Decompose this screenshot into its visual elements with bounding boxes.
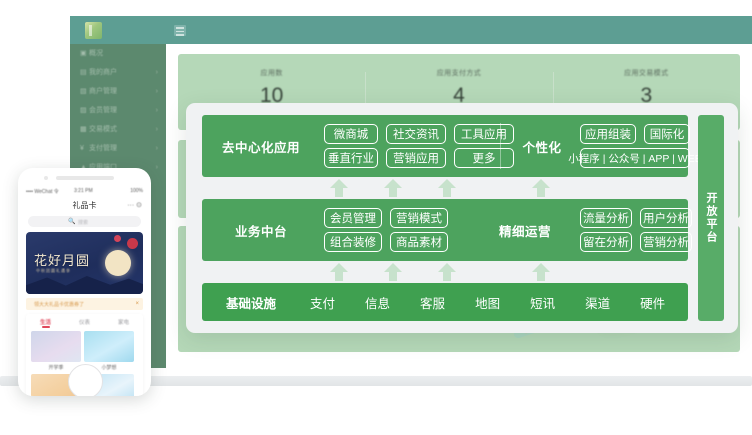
chip-yingyongzuzhuang[interactable]: 应用组装 [580,124,636,144]
stat-1: 应用支付方式 4 [365,68,552,108]
chip-yonghufenxi[interactable]: 用户分析 [640,208,692,228]
phone-home-button[interactable] [68,364,103,396]
mountain-silhouette [26,272,143,294]
infra-label: 基础设施 [226,293,276,312]
notice-text: 领大大礼品卡优惠券了 [34,301,84,308]
chevron-right-icon: › [156,120,158,139]
stat-label: 应用交易模式 [553,68,740,78]
phone-mockup: •••• WeChat 令 3:21 PM 100% 礼品卡 ··· ⊙ 🔍 搜… [18,168,151,396]
search-placeholder: 搜索 [78,219,88,226]
app-logo [85,22,102,39]
list-item[interactable]: 开学季 [31,331,81,371]
sidebar-item-1[interactable]: ▤我的商户 › [70,63,166,82]
infra-item-sms[interactable]: 短讯 [530,293,555,312]
chip-group-analytics: 流量分析 用户分析 留在分析 营销分析 [580,208,692,252]
up-arrow-icon [532,263,550,281]
up-arrow-icon [384,263,402,281]
lantern-icon [114,235,121,242]
row-label-business: 业务中台 [202,199,320,261]
chip-liuliangfenxi[interactable]: 流量分析 [580,208,632,228]
row-business-middle-platform: 业务中台 会员管理 营销模式 组合装修 商品素材 精细运营 流量分析 用户 [202,199,688,261]
chip-chuizhihangye[interactable]: 垂直行业 [324,148,378,168]
merchant-icon: ▧ [80,82,89,101]
trade-icon: ▩ [80,120,89,139]
phone-speaker [56,176,114,180]
banner-title: 花好月圆 [34,250,90,269]
phone-tabs: 生活 仪表 家电 [26,318,143,330]
infra-item-map[interactable]: 地图 [475,293,500,312]
chip-group-personalization: 应用组装 国际化 小程序 | 公众号 | APP | WEB [580,124,690,168]
moon-icon [105,250,131,276]
chip-liuzaifenxi[interactable]: 留在分析 [580,232,632,252]
chevron-right-icon: › [156,139,158,158]
arrow-group-mid [202,261,688,283]
search-icon: 🔍 [68,218,75,225]
battery-label: 100% [130,188,143,194]
phone-banner[interactable]: 花好月圆 中秋团圆礼遇季 [26,232,143,294]
row-infrastructure: 基础设施 支付 信息 客服 地图 短讯 渠道 硬件 [202,283,688,321]
sidebar-item-label: 交易模式 [89,126,117,133]
chevron-right-icon: › [156,101,158,120]
chip-group-business: 会员管理 营销模式 组合装修 商品素材 [324,208,448,252]
arrow-group-top [202,177,688,199]
chevron-right-icon: › [156,63,158,82]
chip-group-decentralized: 微商城 社交资讯 工具应用 垂直行业 营销应用 更多 [324,124,514,168]
architecture-rows: 去中心化应用 微商城 社交资讯 工具应用 垂直行业 营销应用 更多 个性化 [202,115,688,321]
card-image [84,331,134,362]
infra-item-info[interactable]: 信息 [365,293,390,312]
chip-weishangcheng[interactable]: 微商城 [324,124,378,144]
list-menu-icon[interactable] [174,25,186,36]
up-arrow-icon [330,263,348,281]
sidebar-item-4[interactable]: ▩交易模式 › [70,120,166,139]
chip-yingxiaofenxi[interactable]: 营销分析 [640,232,692,252]
up-arrow-icon [532,179,550,197]
row-label-refined-ops: 精细运营 [470,199,580,261]
chip-shangpinsucai[interactable]: 商品素材 [390,232,448,252]
up-arrow-icon [438,179,456,197]
sidebar-item-label: 概况 [89,50,103,57]
architecture-card: 去中心化应用 微商城 社交资讯 工具应用 垂直行业 营销应用 更多 个性化 [186,103,738,333]
sidebar-item-label: 支付管理 [89,145,117,152]
infra-item-channel[interactable]: 渠道 [585,293,610,312]
phone-status-bar: •••• WeChat 令 3:21 PM 100% [26,188,143,196]
up-arrow-icon [384,179,402,197]
sidebar-item-5[interactable]: ¥支付管理 › [70,139,166,158]
close-icon[interactable]: × [135,301,139,307]
tab-underline [42,326,50,328]
infra-item-hardware[interactable]: 硬件 [640,293,665,312]
chip-yingxiaoyingyong[interactable]: 营销应用 [386,148,446,168]
carousel-dots[interactable] [72,288,96,290]
tab-0[interactable]: 生活 [26,318,65,326]
chevron-right-icon: › [156,82,158,101]
row-label-decentralized: 去中心化应用 [202,115,320,177]
chip-guojihua[interactable]: 国际化 [644,124,690,144]
card-image [31,331,81,362]
banner-subtitle: 中秋团圆礼遇季 [36,268,71,274]
chip-huiyuanguanli[interactable]: 会员管理 [324,208,382,228]
tab-1[interactable]: 仪表 [65,318,104,326]
chip-platforms[interactable]: 小程序 | 公众号 | APP | WEB [580,148,690,168]
phone-notice-bar[interactable]: 领大大礼品卡优惠券了 × [26,298,143,310]
sidebar-item-label: 会员管理 [89,107,117,114]
lantern-icon [127,238,138,249]
shop-icon: ▤ [80,63,89,82]
chevron-right-icon: › [156,158,158,177]
sidebar-item-2[interactable]: ▧商户管理 › [70,82,166,101]
open-platform-side-label: 开放平台 [698,115,724,321]
row-label-personalization: 个性化 [504,115,580,177]
chip-yingxiaomoshi[interactable]: 营销模式 [390,208,448,228]
dashboard-icon: ▣ [80,44,89,63]
stat-label: 应用数 [178,68,365,78]
phone-title-icons[interactable]: ··· ⊙ [127,201,142,209]
clock-label: 3:21 PM [74,188,93,194]
sidebar-item-label: 我的商户 [89,69,117,76]
app-header-bar [70,16,752,44]
infra-item-service[interactable]: 客服 [420,293,445,312]
screenshot-root: ▣概况 ▤我的商户 › ▧商户管理 › ▨会员管理 › ▩交易模式 › ¥支付管… [0,0,752,435]
sidebar-item-label: 商户管理 [89,88,117,95]
sidebar-item-0[interactable]: ▣概况 [70,44,166,63]
chip-zuhezhuangxiu[interactable]: 组合装修 [324,232,382,252]
member-icon: ▨ [80,101,89,120]
tab-2[interactable]: 家电 [104,318,143,326]
segment-divider [500,123,501,169]
stat-0: 应用数 10 [178,68,365,108]
pay-icon: ¥ [80,139,89,158]
infra-item-pay[interactable]: 支付 [310,293,335,312]
row-decentralized-apps: 去中心化应用 微商城 社交资讯 工具应用 垂直行业 营销应用 更多 个性化 [202,115,688,177]
sidebar-item-3[interactable]: ▨会员管理 › [70,101,166,120]
stat-2: 应用交易模式 3 [553,68,740,108]
stat-label: 应用支付方式 [365,68,552,78]
up-arrow-icon [330,179,348,197]
chip-shejiaozixun[interactable]: 社交资讯 [386,124,446,144]
phone-search-bar[interactable]: 🔍 搜索 [28,216,141,227]
carrier-label: •••• WeChat 令 [26,188,59,195]
up-arrow-icon [438,263,456,281]
